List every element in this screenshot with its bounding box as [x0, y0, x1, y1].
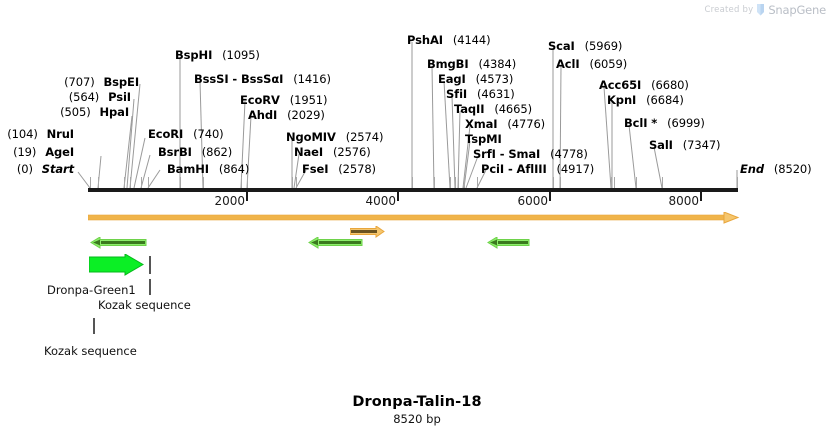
enzyme-label-ecori[interactable]: EcoRI (740): [148, 128, 224, 141]
enzyme-name-end: End: [740, 162, 764, 176]
enzyme-name-tspmi: TspMI: [465, 132, 502, 146]
enzyme-label-pshai[interactable]: PshAI (4144): [407, 34, 490, 47]
enzyme-name-acc65i: Acc65I: [599, 78, 641, 92]
enzyme-position-pcii-afliii: (4917): [557, 162, 595, 176]
enzyme-label-acli[interactable]: AclI (6059): [556, 58, 627, 71]
enzyme-label-bsphi[interactable]: BspHI (1095): [175, 49, 260, 62]
enzyme-label-scai[interactable]: ScaI (5969): [548, 40, 622, 53]
enzyme-label-bspei[interactable]: (707) BspEI: [64, 76, 139, 89]
cut-site-tick: [611, 177, 612, 188]
feature-label-kozak-1: Kozak sequence: [98, 298, 191, 312]
enzyme-name-bcli: BclI *: [624, 116, 657, 130]
enzyme-position-kpni: (6684): [646, 93, 684, 107]
enzyme-label-tspmi[interactable]: TspMI: [465, 133, 508, 146]
enzyme-name-pcii-afliii: PciI - AflIII: [481, 162, 547, 176]
enzyme-position-nrui: (104): [7, 127, 37, 141]
cut-site-tick: [98, 177, 99, 188]
cut-site-tick: [662, 177, 663, 188]
enzyme-label-naei[interactable]: NaeI (2576): [294, 146, 371, 159]
enzyme-label-eagi[interactable]: EagI (4573): [438, 73, 513, 86]
enzyme-name-ahdi: AhdI: [248, 108, 277, 122]
axis-tick-4000: [397, 192, 399, 201]
enzyme-position-start: (0): [17, 162, 33, 176]
enzyme-position-bamhi: (864): [219, 162, 249, 176]
cut-site-tick: [458, 177, 459, 188]
enzyme-position-pshai: (4144): [453, 33, 491, 47]
cut-site-tick: [434, 177, 435, 188]
enzyme-name-sfii: SfiI: [446, 87, 467, 101]
ruler-baseline: [88, 188, 738, 192]
cut-site-tick: [241, 177, 242, 188]
cut-site-tick: [412, 177, 413, 188]
enzyme-position-ngomiv: (2574): [346, 130, 384, 144]
cut-site-tick: [477, 177, 478, 188]
enzyme-name-srfi-smai: SrfI - SmaI: [473, 147, 540, 161]
enzyme-position-sali: (7347): [683, 138, 721, 152]
enzyme-name-bamhi: BamHI: [167, 162, 209, 176]
enzyme-position-ecorv: (1951): [290, 93, 328, 107]
cut-site-tick: [247, 177, 248, 188]
cut-site-tick: [450, 177, 451, 188]
enzyme-label-bsrbi[interactable]: BsrBI (862): [158, 146, 232, 159]
enzyme-position-hpai: (505): [60, 105, 90, 119]
axis-tick-2000: [246, 192, 248, 201]
cut-site-tick: [737, 177, 738, 188]
enzyme-label-end[interactable]: End (8520): [740, 163, 812, 176]
watermark-brand: SnapGene: [768, 3, 826, 17]
enzyme-position-agei: (19): [13, 145, 36, 159]
enzyme-position-xmai: (4776): [507, 117, 545, 131]
enzyme-position-fsei: (2578): [338, 162, 376, 176]
kozak-sequence-tick-2[interactable]: [149, 279, 151, 295]
page-subtitle: 8520 bp: [0, 412, 834, 426]
enzyme-position-taqii: (4665): [494, 102, 532, 116]
enzyme-name-start: Start: [42, 162, 74, 176]
enzyme-name-pshai: PshAI: [407, 33, 443, 47]
page-title: Dronpa-Talin-18: [0, 394, 834, 410]
green-feature-arrow-2[interactable]: [308, 237, 364, 249]
snapgene-watermark: Created by SnapGene: [705, 3, 826, 17]
cut-site-tick: [636, 177, 637, 188]
enzyme-name-taqii: TaqII: [454, 102, 484, 116]
enzyme-label-ecorv[interactable]: EcoRV (1951): [240, 94, 327, 107]
enzyme-name-ecori: EcoRI: [148, 127, 183, 141]
cut-site-tick: [124, 177, 125, 188]
feature-label-kozak-2: Kozak sequence: [44, 344, 137, 358]
enzyme-position-eagi: (4573): [476, 72, 514, 86]
enzyme-name-ecorv: EcoRV: [240, 93, 280, 107]
cut-site-tick: [464, 177, 465, 188]
enzyme-label-psii[interactable]: (564) PsiI: [69, 91, 131, 104]
cut-site-tick: [90, 177, 91, 188]
axis-label-6000: 6000: [517, 194, 548, 208]
enzyme-position-bsssi: (1416): [293, 72, 331, 86]
axis-tick-8000: [700, 192, 702, 201]
cut-site-tick: [455, 177, 456, 188]
axis-label-8000: 8000: [668, 194, 699, 208]
enzyme-name-bsphi: BspHI: [175, 48, 212, 62]
green-feature-arrow-1[interactable]: [90, 237, 148, 249]
enzyme-position-srfi-smai: (4778): [550, 147, 588, 161]
enzyme-name-eagi: EagI: [438, 72, 466, 86]
enzyme-label-bmgbi[interactable]: BmgBI (4384): [427, 58, 516, 71]
enzyme-label-start[interactable]: (0) Start: [17, 163, 74, 176]
cut-site-tick: [553, 177, 554, 188]
enzyme-label-bamhi[interactable]: BamHI (864): [167, 163, 249, 176]
enzyme-position-bmgbi: (4384): [478, 57, 516, 71]
cut-site-tick: [614, 177, 615, 188]
enzyme-name-agei: AgeI: [45, 145, 74, 159]
enzyme-label-nrui[interactable]: (104) NruI: [7, 128, 74, 141]
enzyme-name-kpni: KpnI: [607, 93, 636, 107]
enzyme-position-bsrbi: (862): [202, 145, 232, 159]
enzyme-name-xmai: XmaI: [465, 117, 498, 131]
cut-site-tick: [180, 177, 181, 188]
watermark-created-by: Created by: [705, 5, 754, 15]
enzyme-label-ahdi[interactable]: AhdI (2029): [248, 109, 325, 122]
enzyme-name-hpai: HpaI: [100, 105, 130, 119]
cut-site-tick: [148, 177, 149, 188]
enzyme-name-fsei: FseI: [302, 162, 328, 176]
enzyme-position-bspei: (707): [64, 75, 94, 89]
axis-label-2000: 2000: [214, 194, 245, 208]
enzyme-label-srfi-smai[interactable]: SrfI - SmaI (4778): [473, 148, 588, 161]
enzyme-label-ngomiv[interactable]: NgoMIV (2574): [286, 131, 383, 144]
enzyme-name-bmgbi: BmgBI: [427, 57, 469, 71]
enzyme-position-scai: (5969): [585, 39, 623, 53]
enzyme-name-sali: SalI: [649, 138, 673, 152]
enzyme-label-taqii[interactable]: TaqII (4665): [454, 103, 532, 116]
enzyme-position-end: (8520): [774, 162, 812, 176]
enzyme-name-bsssi: BssSI - BssSαI: [194, 72, 283, 86]
axis-tick-6000: [549, 192, 551, 201]
enzyme-name-ngomiv: NgoMIV: [286, 130, 336, 144]
enzyme-position-naei: (2576): [333, 145, 371, 159]
kozak-sequence-tick-3[interactable]: [93, 318, 95, 334]
enzyme-label-kpni[interactable]: KpnI (6684): [607, 94, 684, 107]
enzyme-name-bsrbi: BsrBI: [158, 145, 192, 159]
enzyme-position-acli: (6059): [589, 57, 627, 71]
enzyme-position-bsphi: (1095): [222, 48, 260, 62]
enzyme-label-bcli[interactable]: BclI * (6999): [624, 117, 705, 130]
enzyme-position-ecori: (740): [193, 127, 223, 141]
enzyme-position-psii: (564): [69, 90, 99, 104]
feature-label-dronpa-green1: Dronpa-Green1: [47, 283, 136, 297]
enzyme-label-hpai[interactable]: (505) HpaI: [60, 106, 129, 119]
enzyme-label-sali[interactable]: SalI (7347): [649, 139, 720, 152]
enzyme-position-sfii: (4631): [477, 87, 515, 101]
enzyme-label-acc65i[interactable]: Acc65I (6680): [599, 79, 689, 92]
cut-site-tick: [130, 177, 131, 188]
enzyme-position-bcli: (6999): [667, 116, 705, 130]
kozak-sequence-tick-1[interactable]: [149, 256, 151, 274]
enzyme-name-nrui: NruI: [47, 127, 74, 141]
enzyme-label-agei[interactable]: (19) AgeI: [13, 146, 74, 159]
orange-backbone-feature[interactable]: [88, 212, 740, 224]
enzyme-position-ahdi: (2029): [287, 108, 325, 122]
snapgene-logo-icon: [756, 4, 765, 17]
enzyme-label-bsssi[interactable]: BssSI - BssSαI (1416): [194, 73, 331, 86]
enzyme-name-psii: PsiI: [108, 90, 131, 104]
enzyme-position-acc65i: (6680): [651, 78, 689, 92]
enzyme-name-acli: AclI: [556, 57, 580, 71]
axis-label-4000: 4000: [365, 194, 396, 208]
enzyme-name-bspei: BspEI: [104, 75, 139, 89]
cut-site-tick: [296, 177, 297, 188]
enzyme-label-pcii-afliii[interactable]: PciI - AflIII (4917): [481, 163, 594, 176]
enzyme-label-sfii[interactable]: SfiI (4631): [446, 88, 515, 101]
dronpa-green1-feature-arrow[interactable]: [89, 254, 145, 276]
enzyme-label-fsei[interactable]: FseI (2578): [302, 163, 376, 176]
green-feature-arrow-3[interactable]: [487, 237, 531, 249]
enzyme-name-scai: ScaI: [548, 39, 575, 53]
plasmid-linear-map: Created by SnapGene: [0, 0, 834, 433]
cut-site-tick: [203, 177, 204, 188]
cut-site-tick: [141, 177, 142, 188]
cut-site-tick: [292, 177, 293, 188]
enzyme-name-naei: NaeI: [294, 145, 323, 159]
cut-site-tick: [560, 177, 561, 188]
enzyme-label-xmai[interactable]: XmaI (4776): [465, 118, 545, 131]
